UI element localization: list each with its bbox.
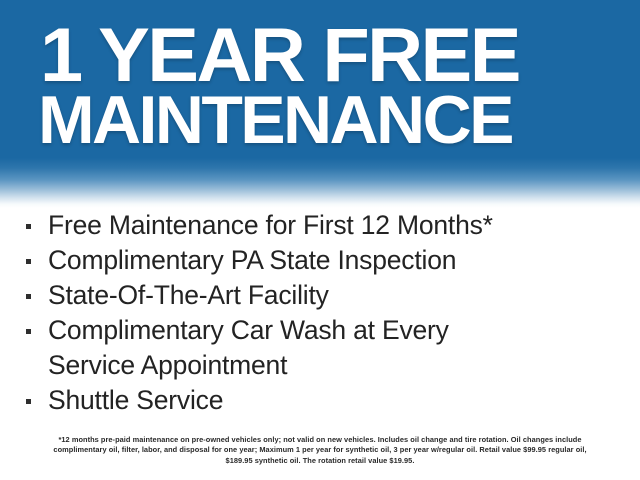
list-item-label: Service Appointment (48, 348, 287, 383)
list-item: Free Maintenance for First 12 Months* (0, 208, 640, 243)
list-item-label: Free Maintenance for First 12 Months* (48, 208, 493, 243)
list-item-label: State-Of-The-Art Facility (48, 278, 329, 313)
headline-line-2: MAINTENANCE (38, 86, 512, 154)
promo-banner: 1 YEAR FREE MAINTENANCE (0, 0, 640, 208)
promo-advertisement: 1 YEAR FREE MAINTENANCE Free Maintenance… (0, 0, 640, 480)
list-item-continuation: Service Appointment (0, 348, 640, 383)
bullet-square-icon (26, 259, 31, 264)
list-item-label: Complimentary PA State Inspection (48, 243, 456, 278)
list-item: State-Of-The-Art Facility (0, 278, 640, 313)
bullet-square-icon (26, 224, 31, 229)
disclaimer-text: *12 months pre-paid maintenance on pre-o… (50, 435, 590, 466)
list-item: Shuttle Service (0, 383, 640, 418)
list-item-label: Complimentary Car Wash at Every (48, 313, 449, 348)
list-item-label: Shuttle Service (48, 383, 223, 418)
list-item: Complimentary PA State Inspection (0, 243, 640, 278)
benefits-list: Free Maintenance for First 12 Months* Co… (0, 208, 640, 418)
bullet-square-icon (26, 399, 31, 404)
list-item: Complimentary Car Wash at Every (0, 313, 640, 348)
bullet-square-icon (26, 294, 31, 299)
bullet-square-icon (26, 329, 31, 334)
